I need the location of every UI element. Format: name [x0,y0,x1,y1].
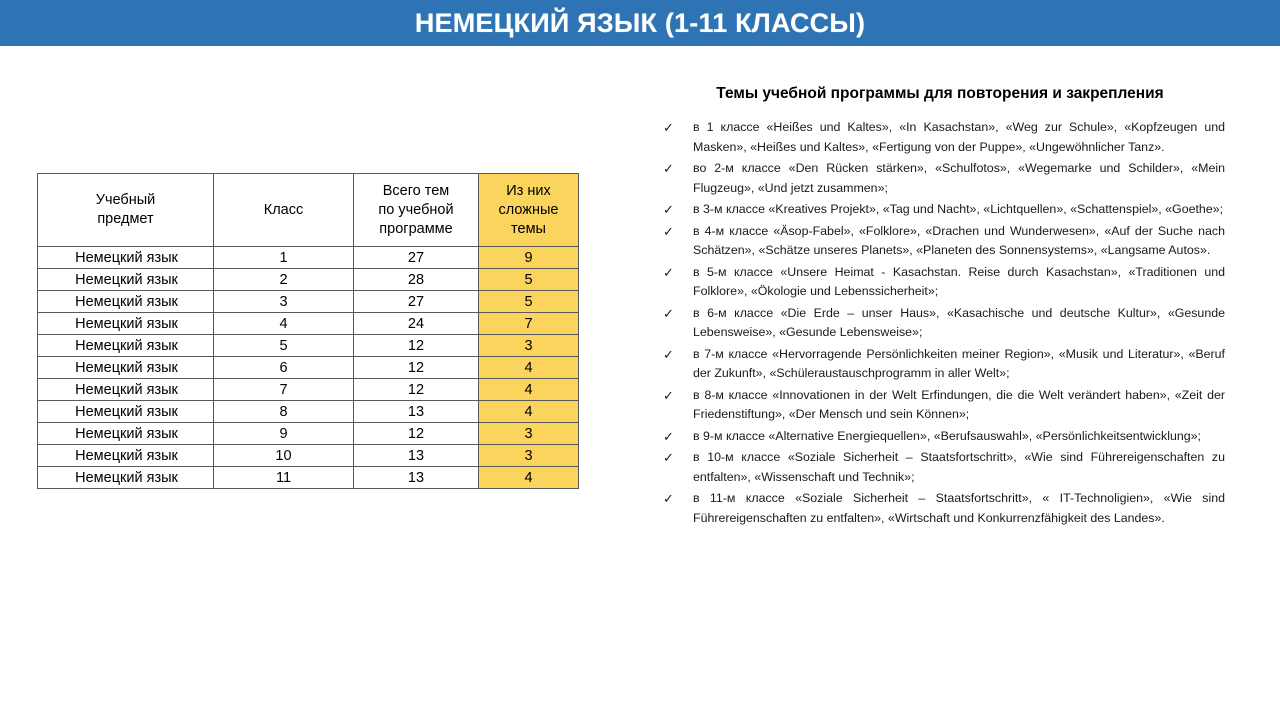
table-row: Немецкий язык 8 13 4 [38,401,579,423]
cell-total: 27 [354,247,479,269]
check-icon: ✓ [663,448,674,468]
cell-total: 13 [354,467,479,489]
list-item-text: в 5-м классе «Unsere Heimat - Kasachstan… [693,263,1225,302]
check-icon: ✓ [663,386,674,406]
check-icon: ✓ [663,427,674,447]
cell-total: 12 [354,379,479,401]
table-row: Немецкий язык 6 12 4 [38,357,579,379]
cell-subject: Немецкий язык [38,335,214,357]
topics-list: ✓ в 1 классе «Heißes und Kaltes», «In Ka… [655,118,1225,528]
cell-hard: 5 [479,291,579,313]
list-item: ✓ во 2-м классе «Den Rücken stärken», «S… [655,159,1225,198]
list-item-text: в 9-м классе «Alternative Energiequellen… [693,427,1225,447]
column-header-total-topics: Всего тем по учебной программе [354,174,479,247]
cell-subject: Немецкий язык [38,291,214,313]
check-icon: ✓ [663,304,674,324]
cell-subject: Немецкий язык [38,379,214,401]
cell-total: 13 [354,445,479,467]
cell-grade: 7 [214,379,354,401]
list-item: ✓ в 9-м классе «Alternative Energiequell… [655,427,1225,447]
list-item-text: в 7-м классе «Hervorragende Persönlichke… [693,345,1225,384]
list-item-text: в 4-м классе «Äsop-Fabel», «Folklore», «… [693,222,1225,261]
table-row: Немецкий язык 11 13 4 [38,467,579,489]
list-item: ✓ в 10-м классе «Soziale Sicherheit – St… [655,448,1225,487]
list-item-text: в 10-м классе «Soziale Sicherheit – Staa… [693,448,1225,487]
cell-grade: 2 [214,269,354,291]
list-item-text: в 6-м классе «Die Erde – unser Haus», «K… [693,304,1225,343]
list-item: ✓ в 8-м классе «Innovationen in der Welt… [655,386,1225,425]
title-band: НЕМЕЦКИЙ ЯЗЫК (1-11 КЛАССЫ) [0,0,1280,46]
cell-subject: Немецкий язык [38,467,214,489]
cell-subject: Немецкий язык [38,357,214,379]
topics-heading: Темы учебной программы для повторения и … [655,84,1225,104]
cell-total: 13 [354,401,479,423]
cell-hard: 5 [479,269,579,291]
table-header-row: Учебный предмет Класс Всего тем по учебн… [38,174,579,247]
list-item: ✓ в 1 классе «Heißes und Kaltes», «In Ka… [655,118,1225,157]
table-row: Немецкий язык 4 24 7 [38,313,579,335]
cell-subject: Немецкий язык [38,401,214,423]
list-item: ✓ в 5-м классе «Unsere Heimat - Kasachst… [655,263,1225,302]
cell-hard: 4 [479,467,579,489]
table-header: Учебный предмет Класс Всего тем по учебн… [38,174,579,247]
list-item-text: в 8-м классе «Innovationen in der Welt E… [693,386,1225,425]
list-item: ✓ в 4-м классе «Äsop-Fabel», «Folklore»,… [655,222,1225,261]
cell-subject: Немецкий язык [38,423,214,445]
cell-hard: 7 [479,313,579,335]
list-item-text: в 3-м классе «Kreatives Projekt», «Tag u… [693,200,1225,220]
cell-grade: 11 [214,467,354,489]
cell-hard: 3 [479,445,579,467]
cell-total: 12 [354,335,479,357]
cell-hard: 9 [479,247,579,269]
cell-total: 24 [354,313,479,335]
cell-hard: 4 [479,357,579,379]
check-icon: ✓ [663,263,674,283]
check-icon: ✓ [663,200,674,220]
cell-subject: Немецкий язык [38,269,214,291]
cell-hard: 3 [479,335,579,357]
page-title: НЕМЕЦКИЙ ЯЗЫК (1-11 КЛАССЫ) [415,8,865,39]
list-item-text: в 1 классе «Heißes und Kaltes», «In Kasa… [693,118,1225,157]
topics-column: Темы учебной программы для повторения и … [655,84,1225,530]
column-header-grade: Класс [214,174,354,247]
list-item: ✓ в 11-м классе «Soziale Sicherheit – St… [655,489,1225,528]
check-icon: ✓ [663,118,674,138]
table-row: Немецкий язык 5 12 3 [38,335,579,357]
subject-table-wrapper: Учебный предмет Класс Всего тем по учебн… [37,173,578,489]
cell-grade: 9 [214,423,354,445]
cell-hard: 4 [479,401,579,423]
list-item: ✓ в 7-м классе «Hervorragende Persönlich… [655,345,1225,384]
cell-grade: 5 [214,335,354,357]
list-item-text: во 2-м классе «Den Rücken stärken», «Sch… [693,159,1225,198]
column-header-difficult-topics: Из них сложные темы [479,174,579,247]
subject-table: Учебный предмет Класс Всего тем по учебн… [37,173,579,489]
table-row: Немецкий язык 2 28 5 [38,269,579,291]
cell-grade: 4 [214,313,354,335]
cell-total: 28 [354,269,479,291]
check-icon: ✓ [663,222,674,242]
cell-subject: Немецкий язык [38,313,214,335]
cell-grade: 8 [214,401,354,423]
table-row: Немецкий язык 9 12 3 [38,423,579,445]
list-item: ✓ в 6-м классе «Die Erde – unser Haus», … [655,304,1225,343]
cell-total: 12 [354,423,479,445]
table-row: Немецкий язык 3 27 5 [38,291,579,313]
cell-grade: 10 [214,445,354,467]
cell-subject: Немецкий язык [38,445,214,467]
cell-total: 12 [354,357,479,379]
column-header-subject: Учебный предмет [38,174,214,247]
table-row: Немецкий язык 1 27 9 [38,247,579,269]
table-row: Немецкий язык 7 12 4 [38,379,579,401]
table-row: Немецкий язык 10 13 3 [38,445,579,467]
cell-total: 27 [354,291,479,313]
cell-grade: 1 [214,247,354,269]
list-item: ✓ в 3-м классе «Kreatives Projekt», «Tag… [655,200,1225,220]
cell-hard: 3 [479,423,579,445]
check-icon: ✓ [663,345,674,365]
cell-hard: 4 [479,379,579,401]
cell-subject: Немецкий язык [38,247,214,269]
cell-grade: 6 [214,357,354,379]
check-icon: ✓ [663,489,674,509]
list-item-text: в 11-м классе «Soziale Sicherheit – Staa… [693,489,1225,528]
table-body: Немецкий язык 1 27 9 Немецкий язык 2 28 … [38,247,579,489]
check-icon: ✓ [663,159,674,179]
cell-grade: 3 [214,291,354,313]
